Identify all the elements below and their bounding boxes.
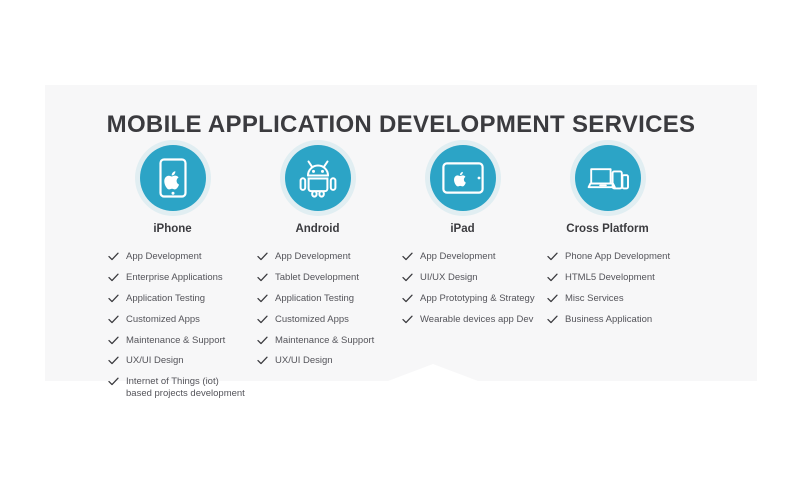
- badge-ipad[interactable]: [430, 145, 496, 211]
- feature-list-iphone: App Development Enterprise Applications …: [100, 251, 245, 400]
- check-icon: [108, 293, 121, 303]
- feature-text: App Development: [126, 251, 202, 263]
- feature-text: Internet of Things (iot) based projects …: [126, 376, 245, 400]
- check-icon: [402, 314, 415, 324]
- check-icon: [108, 314, 121, 324]
- check-icon: [547, 272, 560, 282]
- check-icon: [257, 293, 270, 303]
- service-column-android: Android App Development Tablet Developme…: [245, 145, 390, 376]
- list-item: Customized Apps: [257, 314, 390, 326]
- cross-platform-icon: [587, 162, 629, 194]
- page-title: MOBILE APPLICATION DEVELOPMENT SERVICES: [45, 111, 757, 139]
- feature-list-android: App Development Tablet Development Appli…: [245, 251, 390, 367]
- check-icon: [257, 355, 270, 365]
- feature-text: Misc Services: [565, 293, 624, 305]
- check-icon: [547, 314, 560, 324]
- list-item: App Prototyping & Strategy: [402, 293, 535, 305]
- list-item: Application Testing: [108, 293, 245, 305]
- feature-text: Application Testing: [126, 293, 205, 305]
- check-icon: [547, 293, 560, 303]
- check-icon: [402, 272, 415, 282]
- check-icon: [108, 355, 121, 365]
- list-item: App Development: [257, 251, 390, 263]
- list-item: UX/UI Design: [108, 355, 245, 367]
- list-item: Maintenance & Support: [108, 335, 245, 347]
- check-icon: [257, 251, 270, 261]
- service-column-iphone: iPhone App Development Enterprise Applic…: [100, 145, 245, 409]
- badge-iphone[interactable]: [140, 145, 206, 211]
- badge-wrap-iphone: [100, 145, 245, 211]
- service-title-ipad: iPad: [390, 223, 535, 235]
- check-icon: [108, 251, 121, 261]
- ipad-icon: [442, 162, 484, 194]
- check-icon: [547, 251, 560, 261]
- feature-text: HTML5 Development: [565, 272, 655, 284]
- feature-text: Maintenance & Support: [126, 335, 225, 347]
- feature-text: Customized Apps: [275, 314, 349, 326]
- service-title-iphone: iPhone: [100, 223, 245, 235]
- list-item: Internet of Things (iot) based projects …: [108, 376, 245, 400]
- list-item: App Development: [108, 251, 245, 263]
- feature-text: Customized Apps: [126, 314, 200, 326]
- feature-text: App Prototyping & Strategy: [420, 293, 535, 305]
- feature-text: Application Testing: [275, 293, 354, 305]
- list-item: Application Testing: [257, 293, 390, 305]
- check-icon: [108, 335, 121, 345]
- service-title-android: Android: [245, 223, 390, 235]
- badge-wrap-ipad: [390, 145, 535, 211]
- feature-text: App Development: [420, 251, 496, 263]
- feature-text: UI/UX Design: [420, 272, 478, 284]
- list-item: HTML5 Development: [547, 272, 680, 284]
- service-column-cross-platform: Cross Platform Phone App Development HTM…: [535, 145, 680, 335]
- feature-text: Maintenance & Support: [275, 335, 374, 347]
- feature-text: Tablet Development: [275, 272, 359, 284]
- list-item: Wearable devices app Dev: [402, 314, 535, 326]
- badge-wrap-cross-platform: [535, 145, 680, 211]
- feature-list-ipad: App Development UI/UX Design App Prototy…: [390, 251, 535, 326]
- check-icon: [402, 251, 415, 261]
- list-item: Phone App Development: [547, 251, 680, 263]
- feature-text: Wearable devices app Dev: [420, 314, 533, 326]
- feature-text: App Development: [275, 251, 351, 263]
- services-columns: iPhone App Development Enterprise Applic…: [100, 145, 710, 409]
- page-root: MOBILE APPLICATION DEVELOPMENT SERVICES: [0, 0, 800, 480]
- badge-wrap-android: [245, 145, 390, 211]
- feature-text: Business Application: [565, 314, 652, 326]
- android-icon: [299, 158, 337, 198]
- check-icon: [257, 314, 270, 324]
- feature-text: UX/UI Design: [275, 355, 333, 367]
- check-icon: [257, 335, 270, 345]
- check-icon: [108, 272, 121, 282]
- list-item: UX/UI Design: [257, 355, 390, 367]
- badge-android[interactable]: [285, 145, 351, 211]
- feature-list-cross-platform: Phone App Development HTML5 Development …: [535, 251, 680, 326]
- list-item: UI/UX Design: [402, 272, 535, 284]
- list-item: Business Application: [547, 314, 680, 326]
- check-icon: [108, 376, 121, 386]
- check-icon: [402, 293, 415, 303]
- list-item: Misc Services: [547, 293, 680, 305]
- iphone-icon: [158, 158, 188, 198]
- check-icon: [257, 272, 270, 282]
- feature-text: UX/UI Design: [126, 355, 184, 367]
- service-title-cross-platform: Cross Platform: [535, 223, 680, 235]
- list-item: Maintenance & Support: [257, 335, 390, 347]
- badge-cross-platform[interactable]: [575, 145, 641, 211]
- list-item: Customized Apps: [108, 314, 245, 326]
- list-item: App Development: [402, 251, 535, 263]
- services-panel: MOBILE APPLICATION DEVELOPMENT SERVICES: [45, 85, 757, 381]
- service-column-ipad: iPad App Development UI/UX Design: [390, 145, 535, 335]
- list-item: Tablet Development: [257, 272, 390, 284]
- feature-text: Enterprise Applications: [126, 272, 223, 284]
- list-item: Enterprise Applications: [108, 272, 245, 284]
- feature-text: Phone App Development: [565, 251, 670, 263]
